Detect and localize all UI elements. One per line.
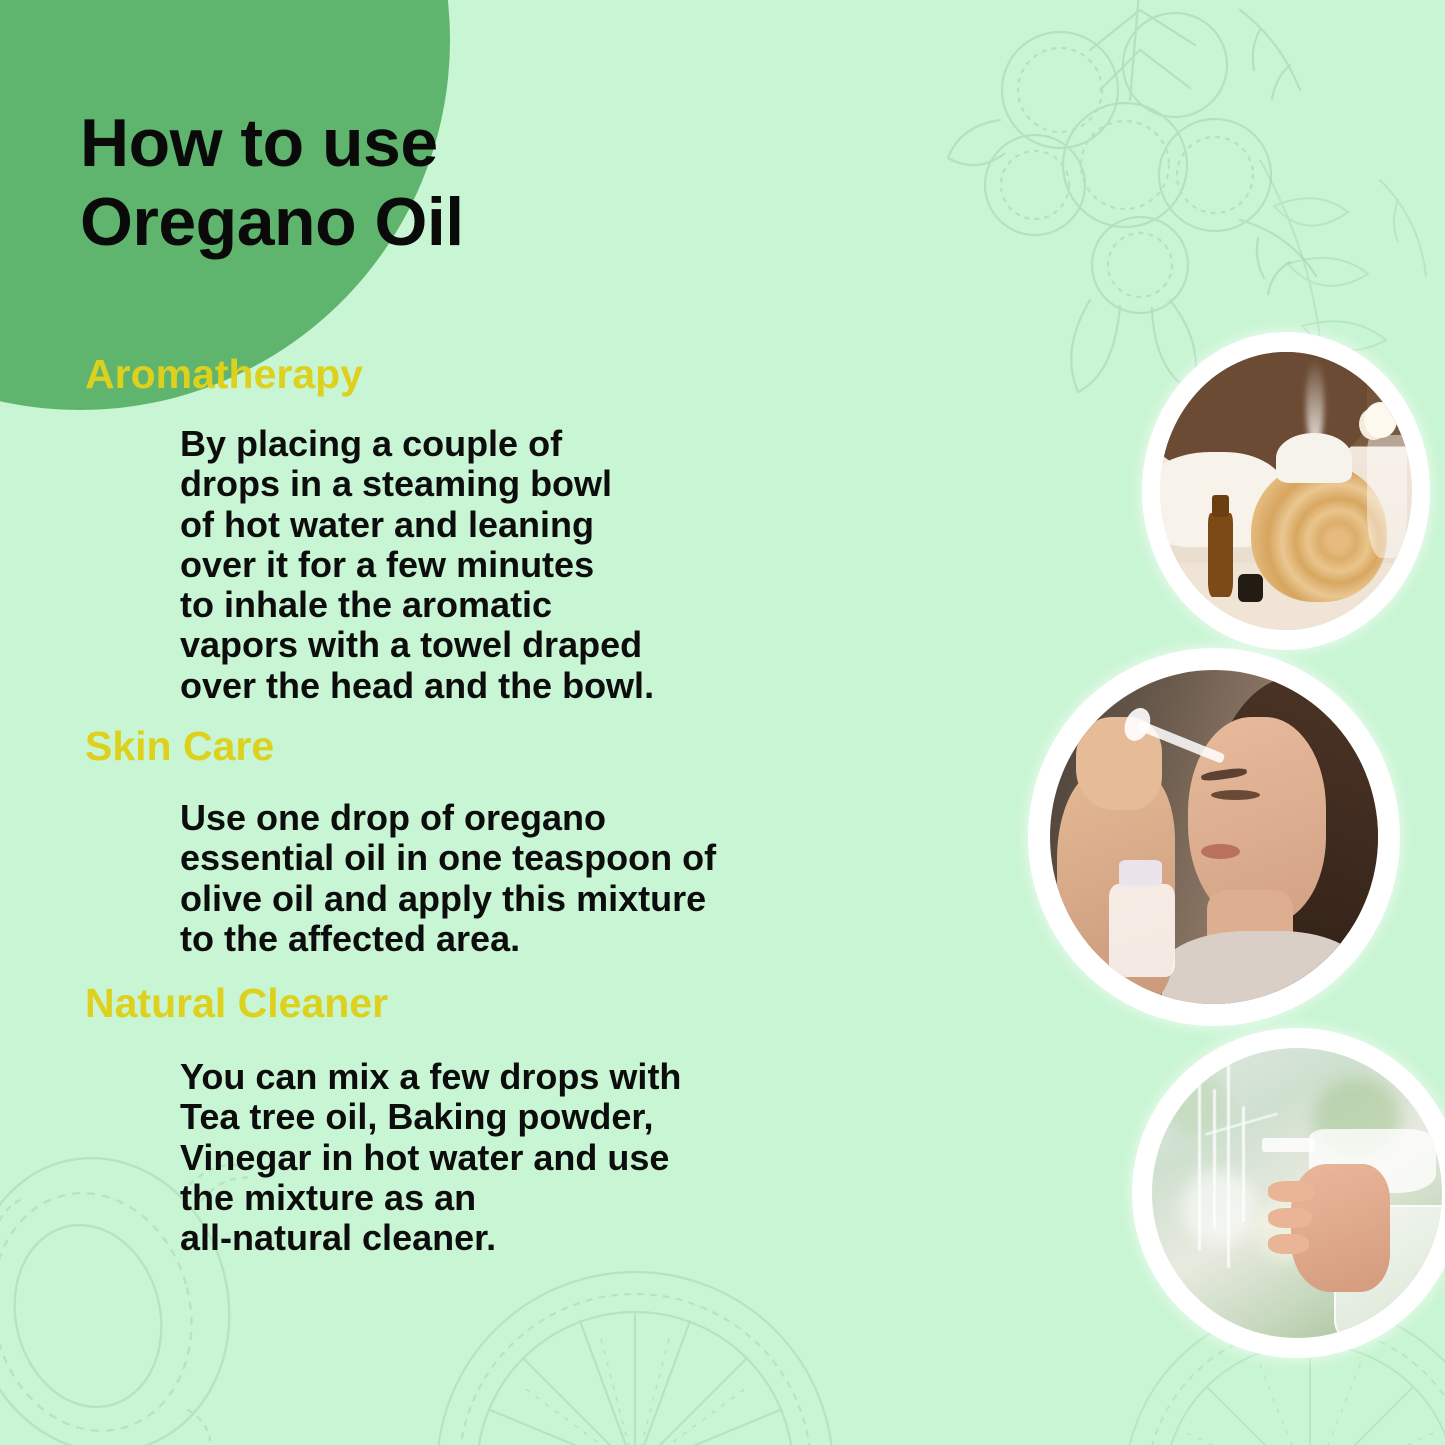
section-body-skin-care: Use one drop of oregano essential oil in… — [0, 798, 950, 959]
citrus-slice-watermark — [420, 1255, 850, 1445]
section-body-aromatherapy: By placing a couple of drops in a steami… — [0, 424, 950, 706]
aromatherapy-diffuser-photo — [1142, 332, 1430, 650]
diffuser-scene — [1160, 352, 1412, 630]
sections-container: Aromatherapy By placing a couple of drop… — [0, 352, 950, 1263]
infographic-poster: How to use Oregano Oil Aromatherapy By p… — [0, 0, 1445, 1445]
section-skin-care: Skin Care Use one drop of oregano essent… — [0, 724, 950, 959]
photo-inner-2 — [1050, 670, 1378, 1004]
skincare-scene — [1050, 670, 1378, 1004]
section-heading-natural-cleaner: Natural Cleaner — [0, 981, 950, 1027]
photo-inner-3 — [1152, 1048, 1442, 1338]
woman-applying-serum-photo — [1028, 648, 1400, 1026]
page-title: How to use Oregano Oil — [80, 104, 464, 262]
cleaning-scene — [1152, 1048, 1442, 1338]
section-aromatherapy: Aromatherapy By placing a couple of drop… — [0, 352, 950, 706]
photo-inner-1 — [1160, 352, 1412, 630]
section-natural-cleaner: Natural Cleaner You can mix a few drops … — [0, 981, 950, 1258]
section-heading-aromatherapy: Aromatherapy — [0, 352, 950, 398]
section-heading-skin-care: Skin Care — [0, 724, 950, 770]
section-body-natural-cleaner: You can mix a few drops with Tea tree oi… — [0, 1057, 950, 1259]
spray-bottle-cleaning-window-photo — [1132, 1028, 1445, 1358]
